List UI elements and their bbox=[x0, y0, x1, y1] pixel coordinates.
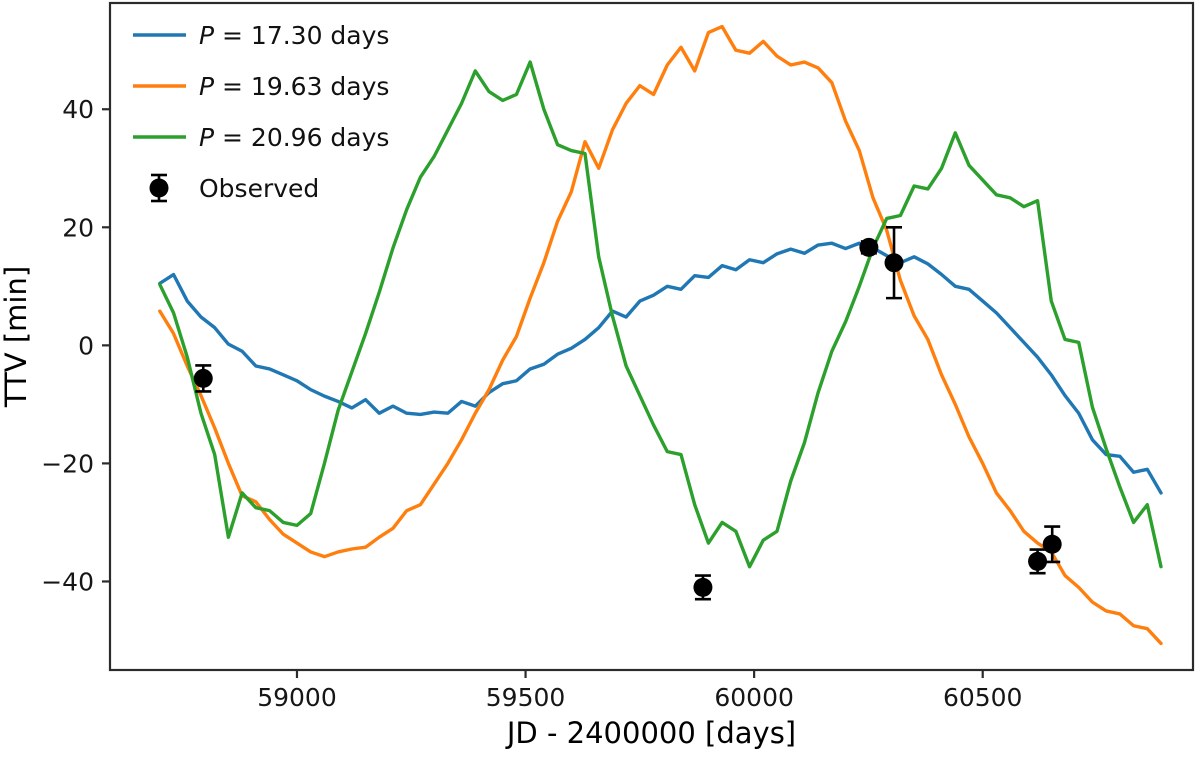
axis-ticks-group: 5900059500600006050040200−20−40 bbox=[41, 95, 1022, 712]
y-tick-label: −40 bbox=[41, 567, 94, 596]
y-tick-label: 40 bbox=[62, 95, 94, 124]
chart-canvas: 5900059500600006050040200−20−40 P = 17.3… bbox=[0, 0, 1200, 760]
series-group bbox=[160, 27, 1161, 644]
x-tick-label: 60000 bbox=[714, 683, 794, 712]
observed-marker bbox=[194, 369, 213, 388]
legend-label-2: P = 20.96 days bbox=[199, 123, 389, 152]
observed-marker bbox=[885, 253, 904, 272]
x-axis-title: JD - 2400000 [days] bbox=[505, 716, 796, 750]
y-tick-label: 0 bbox=[78, 331, 94, 360]
observed-marker bbox=[693, 578, 712, 597]
observed-marker bbox=[859, 238, 878, 257]
legend-label-3: Observed bbox=[199, 174, 319, 203]
observed-point bbox=[693, 576, 712, 600]
y-tick-label: 20 bbox=[62, 213, 94, 242]
legend-observed-swatch bbox=[150, 175, 169, 201]
legend-observed-marker bbox=[150, 179, 169, 198]
observed-points-group bbox=[194, 227, 1062, 599]
axes-frame-group bbox=[110, 3, 1193, 670]
axis-titles-group: JD - 2400000 [days]TTV [min] bbox=[0, 266, 796, 750]
legend-label-0: P = 17.30 days bbox=[199, 21, 389, 50]
x-tick-label: 59500 bbox=[486, 683, 566, 712]
plot-area-border bbox=[110, 3, 1193, 670]
legend-group: P = 17.30 daysP = 19.63 daysP = 20.96 da… bbox=[133, 21, 389, 203]
y-axis-title: TTV [min] bbox=[0, 266, 33, 408]
legend-label-1: P = 19.63 days bbox=[199, 72, 389, 101]
observed-point bbox=[859, 238, 878, 257]
y-tick-label: −20 bbox=[41, 449, 94, 478]
series-line-1 bbox=[160, 27, 1161, 644]
x-tick-label: 60500 bbox=[943, 683, 1023, 712]
series-line-0 bbox=[160, 243, 1161, 493]
observed-marker bbox=[1043, 535, 1062, 554]
ttv-chart-figure: 5900059500600006050040200−20−40 P = 17.3… bbox=[0, 0, 1200, 760]
x-tick-label: 59000 bbox=[257, 683, 337, 712]
